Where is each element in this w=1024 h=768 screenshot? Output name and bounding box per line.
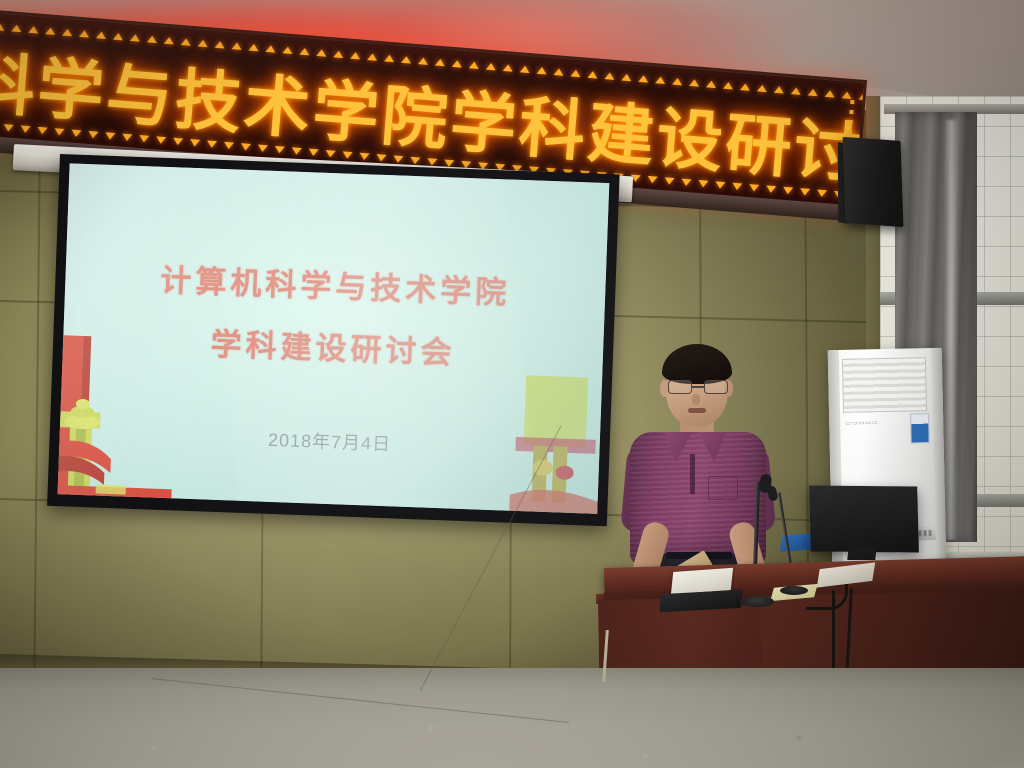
projection-screen-surface: 计算机科学与技术学院 学科建设研讨会 2018年7月4日 [58, 163, 610, 514]
presenter-mouth [688, 408, 706, 413]
shirt-pocket [708, 476, 738, 500]
ac-button[interactable] [929, 530, 932, 536]
ac-energy-label [910, 413, 930, 443]
presenter-monitor [809, 486, 919, 553]
projection-screen: 计算机科学与技术学院 学科建设研讨会 2018年7月4日 [47, 154, 620, 526]
slide-title: 计算机科学与技术学院 [65, 251, 606, 316]
ac-button[interactable] [919, 530, 922, 536]
wall-speaker [843, 137, 904, 227]
monitor-stand [847, 546, 876, 560]
ac-vent-grille [842, 357, 927, 413]
presenter-hair [662, 344, 732, 384]
ac-buttons-right[interactable] [919, 530, 932, 536]
shirt-placket [690, 454, 695, 494]
presentation-slide: 计算机科学与技术学院 学科建设研讨会 2018年7月4日 [58, 163, 610, 514]
curtain-highlight [944, 120, 958, 540]
glasses-icon [668, 380, 728, 395]
photo-scene: 科学与技术学院学科建设研讨会 Nova [0, 0, 1024, 768]
glasses-lens-left [668, 380, 692, 394]
ac-button[interactable] [924, 530, 927, 536]
floor-speckle [0, 668, 1024, 768]
microphone-base [740, 596, 774, 607]
presenter-nose [692, 394, 700, 405]
glasses-lens-right [704, 380, 728, 394]
glasses-bridge [692, 386, 704, 388]
microphone-base-secondary [780, 586, 808, 595]
ac-brand-label: ▭▭▭▭▭ [845, 419, 878, 427]
